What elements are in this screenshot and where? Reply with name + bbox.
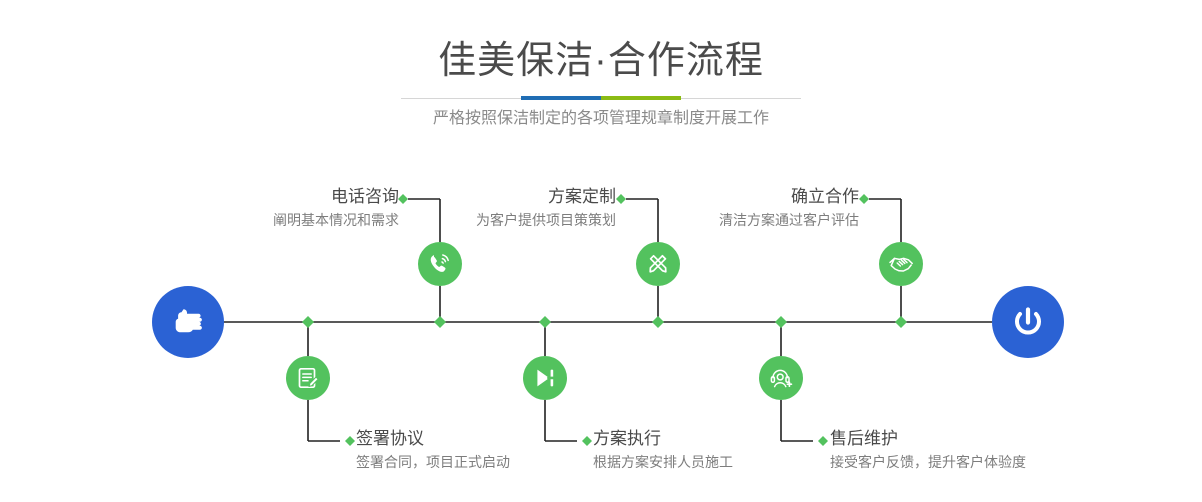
step-desc-3: 为客户提供项目策策划 — [476, 209, 616, 231]
flow-start-node[interactable] — [152, 286, 224, 358]
step-title-3: 方案定制 — [476, 186, 616, 208]
label-diamond-step-6 — [818, 436, 828, 446]
step-desc-1: 阐明基本情况和需求 — [273, 209, 399, 231]
power-icon — [1008, 302, 1048, 342]
step-label-6: 售后维护 接受客户反馈，提升客户体验度 — [830, 428, 1026, 473]
timeline-diamond-step-1 — [434, 316, 446, 328]
step-label-1: 电话咨询 阐明基本情况和需求 — [273, 186, 399, 231]
step-title-1: 电话咨询 — [273, 186, 399, 208]
step-title-6: 售后维护 — [830, 428, 1026, 450]
timeline-diamond-step-2 — [302, 316, 314, 328]
pencil-design-icon — [645, 251, 671, 277]
step-desc-4: 根据方案安排人员施工 — [593, 451, 733, 473]
step-label-2: 签署协议 签署合同，项目正式启动 — [356, 428, 510, 473]
label-diamond-step-4 — [582, 436, 592, 446]
step-node-1[interactable] — [418, 242, 462, 286]
label-diamond-step-3 — [616, 194, 626, 204]
step-node-2[interactable] — [286, 356, 330, 400]
flow-diagram-page: 佳美保洁·合作流程 严格按照保洁制定的各项管理规章制度开展工作 — [0, 0, 1202, 502]
step-title-2: 签署协议 — [356, 428, 510, 450]
pointing-hand-icon — [168, 302, 208, 342]
step-desc-2: 签署合同，项目正式启动 — [356, 451, 510, 473]
label-diamond-step-2 — [345, 436, 355, 446]
step-title-5: 确立合作 — [719, 186, 859, 208]
phone-call-icon — [427, 251, 453, 277]
flow-end-node[interactable] — [992, 286, 1064, 358]
step-label-3: 方案定制 为客户提供项目策策划 — [476, 186, 616, 231]
step-desc-5: 清洁方案通过客户评估 — [719, 209, 859, 231]
document-edit-icon — [295, 365, 321, 391]
play-execute-icon — [532, 365, 558, 391]
step-node-3[interactable] — [636, 242, 680, 286]
step-node-5[interactable] — [879, 242, 923, 286]
handshake-icon — [887, 250, 915, 278]
step-desc-6: 接受客户反馈，提升客户体验度 — [830, 451, 1026, 473]
flow-connector-lines — [0, 0, 1202, 502]
label-diamond-step-5 — [859, 194, 869, 204]
label-diamond-step-1 — [398, 194, 408, 204]
timeline-diamond-step-3 — [652, 316, 664, 328]
timeline-diamond-step-5 — [895, 316, 907, 328]
step-label-5: 确立合作 清洁方案通过客户评估 — [719, 186, 859, 231]
timeline-diamond-step-6 — [775, 316, 787, 328]
step-node-6[interactable] — [759, 356, 803, 400]
timeline-diamond-step-4 — [539, 316, 551, 328]
step-label-4: 方案执行 根据方案安排人员施工 — [593, 428, 733, 473]
step-node-4[interactable] — [523, 356, 567, 400]
step-title-4: 方案执行 — [593, 428, 733, 450]
process-flow: 电话咨询 阐明基本情况和需求 签署协议 签署合同，项目正式启动 — [0, 0, 1202, 502]
customer-support-icon — [768, 365, 794, 391]
